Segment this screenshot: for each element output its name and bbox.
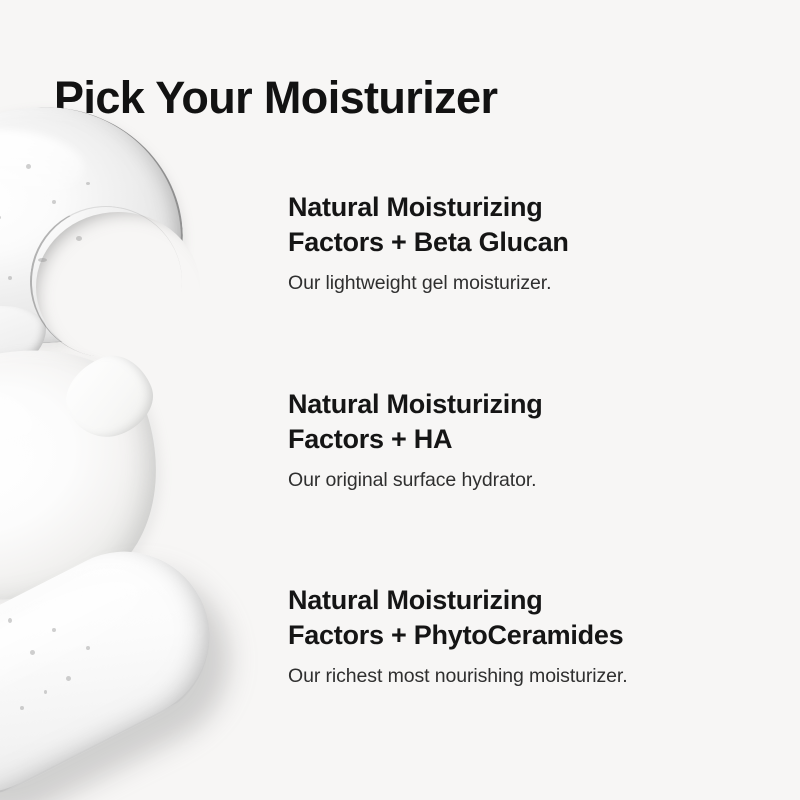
- product-description: Our original surface hydrator.: [288, 467, 758, 493]
- cream-smear-shape: [0, 313, 192, 640]
- product-name: Natural Moisturizing Factors + PhytoCera…: [288, 583, 758, 653]
- product-item[interactable]: Natural Moisturizing Factors + PhytoCera…: [288, 583, 758, 689]
- cream-highlight: [0, 388, 38, 474]
- product-description: Our lightweight gel moisturizer.: [288, 270, 758, 296]
- cream-curl-peak: [55, 345, 164, 450]
- product-item[interactable]: Natural Moisturizing Factors + Beta Gluc…: [288, 190, 758, 296]
- product-item[interactable]: Natural Moisturizing Factors + HA Our or…: [288, 387, 758, 493]
- gel-stripe-shadow: [0, 541, 260, 800]
- product-name: Natural Moisturizing Factors + Beta Gluc…: [288, 190, 758, 260]
- gel-stripe-shape: [0, 522, 239, 800]
- product-description: Our richest most nourishing moisturizer.: [288, 663, 758, 689]
- product-name: Natural Moisturizing Factors + HA: [288, 387, 758, 457]
- gel-highlight: [0, 130, 84, 206]
- white-cream-swatch: [0, 352, 210, 620]
- gel-inner-rim: [20, 196, 192, 367]
- gel-stripe-bubbles: [0, 568, 280, 800]
- moisturizer-comparison-page: Pick Your Moisturizer: [0, 0, 800, 800]
- gel-stripe-highlight: [0, 563, 153, 721]
- gel-blob-shape: [0, 98, 190, 354]
- gel-bubbles: [0, 108, 240, 376]
- thick-gel-swatch: [0, 568, 280, 800]
- clear-gel-swatch: [0, 108, 240, 376]
- gel-drip-shape: [0, 306, 46, 368]
- product-list: Natural Moisturizing Factors + Beta Gluc…: [288, 0, 758, 800]
- gel-notch-cutout: [36, 212, 200, 362]
